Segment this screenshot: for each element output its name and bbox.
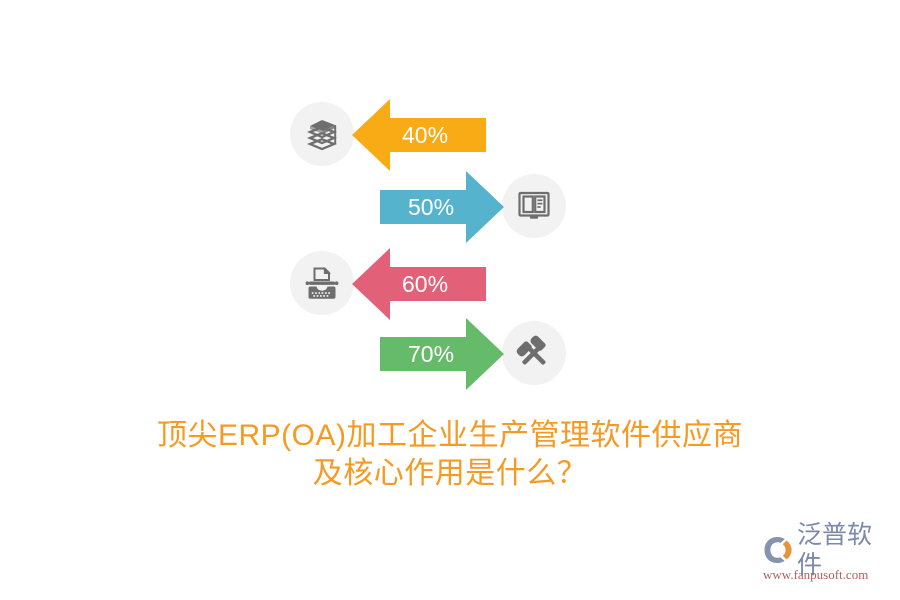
page-title: 顶尖ERP(OA)加工企业生产管理软件供应商 及核心作用是什么？: [0, 417, 900, 493]
arrow-label-40: 40%: [402, 99, 448, 171]
open-book-icon-badge: [502, 174, 566, 238]
brand-watermark: 泛普软件 www.fanpusoft.com: [763, 534, 893, 586]
chart-row: 70%: [380, 318, 566, 390]
arrow-70: 70%: [380, 318, 504, 390]
chart-row: 60%: [290, 248, 486, 320]
arrow-label-50: 50%: [408, 171, 454, 243]
typewriter-icon-badge: [290, 251, 354, 315]
arrow-50: 50%: [380, 171, 504, 243]
fanpu-logo-icon: [763, 535, 795, 565]
brand-lockup: 泛普软件: [763, 534, 893, 566]
page-title-line-1: 顶尖ERP(OA)加工企业生产管理软件供应商: [0, 417, 900, 455]
books-stack-icon-badge: [290, 102, 354, 166]
arrow-60: 60%: [352, 248, 486, 320]
arrow-40: 40%: [352, 99, 486, 171]
chart-row: 50%: [380, 171, 566, 243]
crossed-hammers-icon-badge: [502, 321, 566, 385]
typewriter-icon: [302, 263, 342, 303]
crossed-hammers-icon: [514, 333, 554, 373]
open-book-icon: [514, 186, 554, 226]
arrow-label-60: 60%: [402, 248, 448, 320]
books-stack-icon: [302, 114, 342, 154]
chart-row: 40%: [290, 99, 486, 171]
arrow-label-70: 70%: [408, 318, 454, 390]
infographic-canvas: 40%: [0, 0, 900, 600]
page-title-line-2: 及核心作用是什么？: [0, 455, 900, 493]
